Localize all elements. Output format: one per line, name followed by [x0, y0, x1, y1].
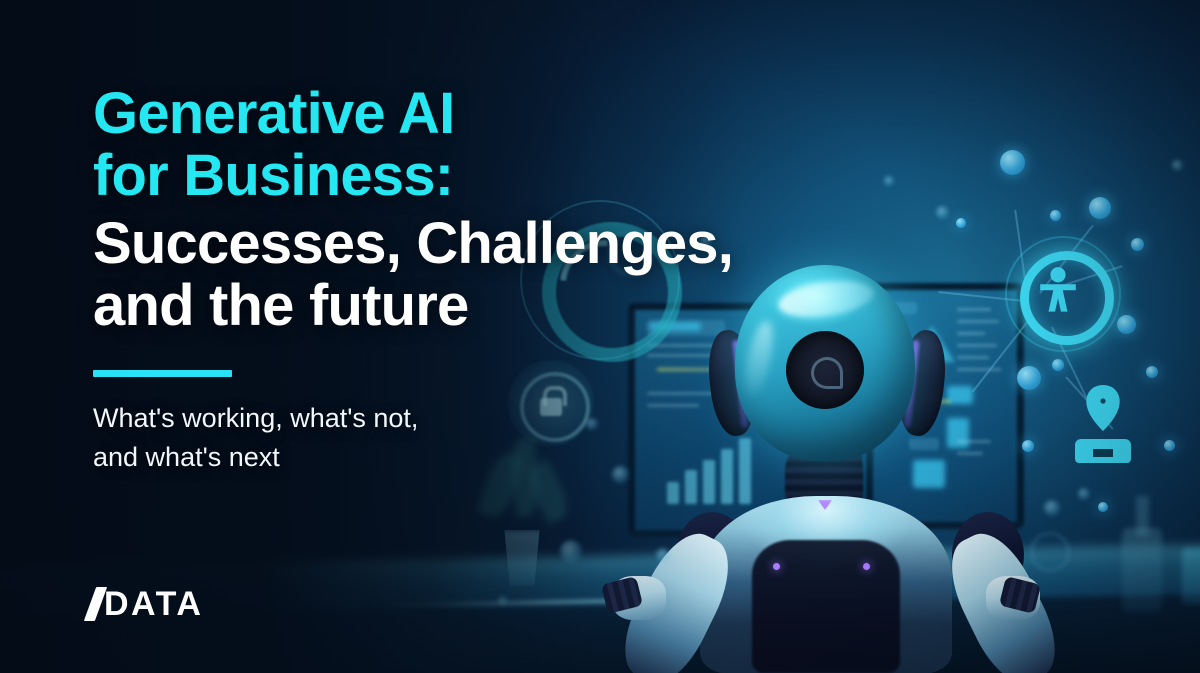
- headline-block: Generative AI for Business: Successes, C…: [93, 83, 793, 476]
- title-line-1: Generative AI: [93, 83, 793, 145]
- page-title: Generative AI for Business: Successes, C…: [93, 83, 793, 337]
- accent-divider: [93, 370, 232, 377]
- subtitle: What's working, what's not, and what's n…: [93, 399, 793, 476]
- logo-wordmark: DATA: [104, 587, 203, 621]
- title-line-2: for Business:: [93, 145, 793, 207]
- title-line-4: and the future: [93, 275, 793, 337]
- brand-logo: DATA: [90, 587, 203, 621]
- title-line-3: Successes, Challenges,: [93, 213, 793, 275]
- subtitle-line-1: What's working, what's not,: [93, 403, 418, 433]
- subtitle-line-2: and what's next: [93, 442, 280, 472]
- marketing-banner: Generative AI for Business: Successes, C…: [0, 0, 1200, 673]
